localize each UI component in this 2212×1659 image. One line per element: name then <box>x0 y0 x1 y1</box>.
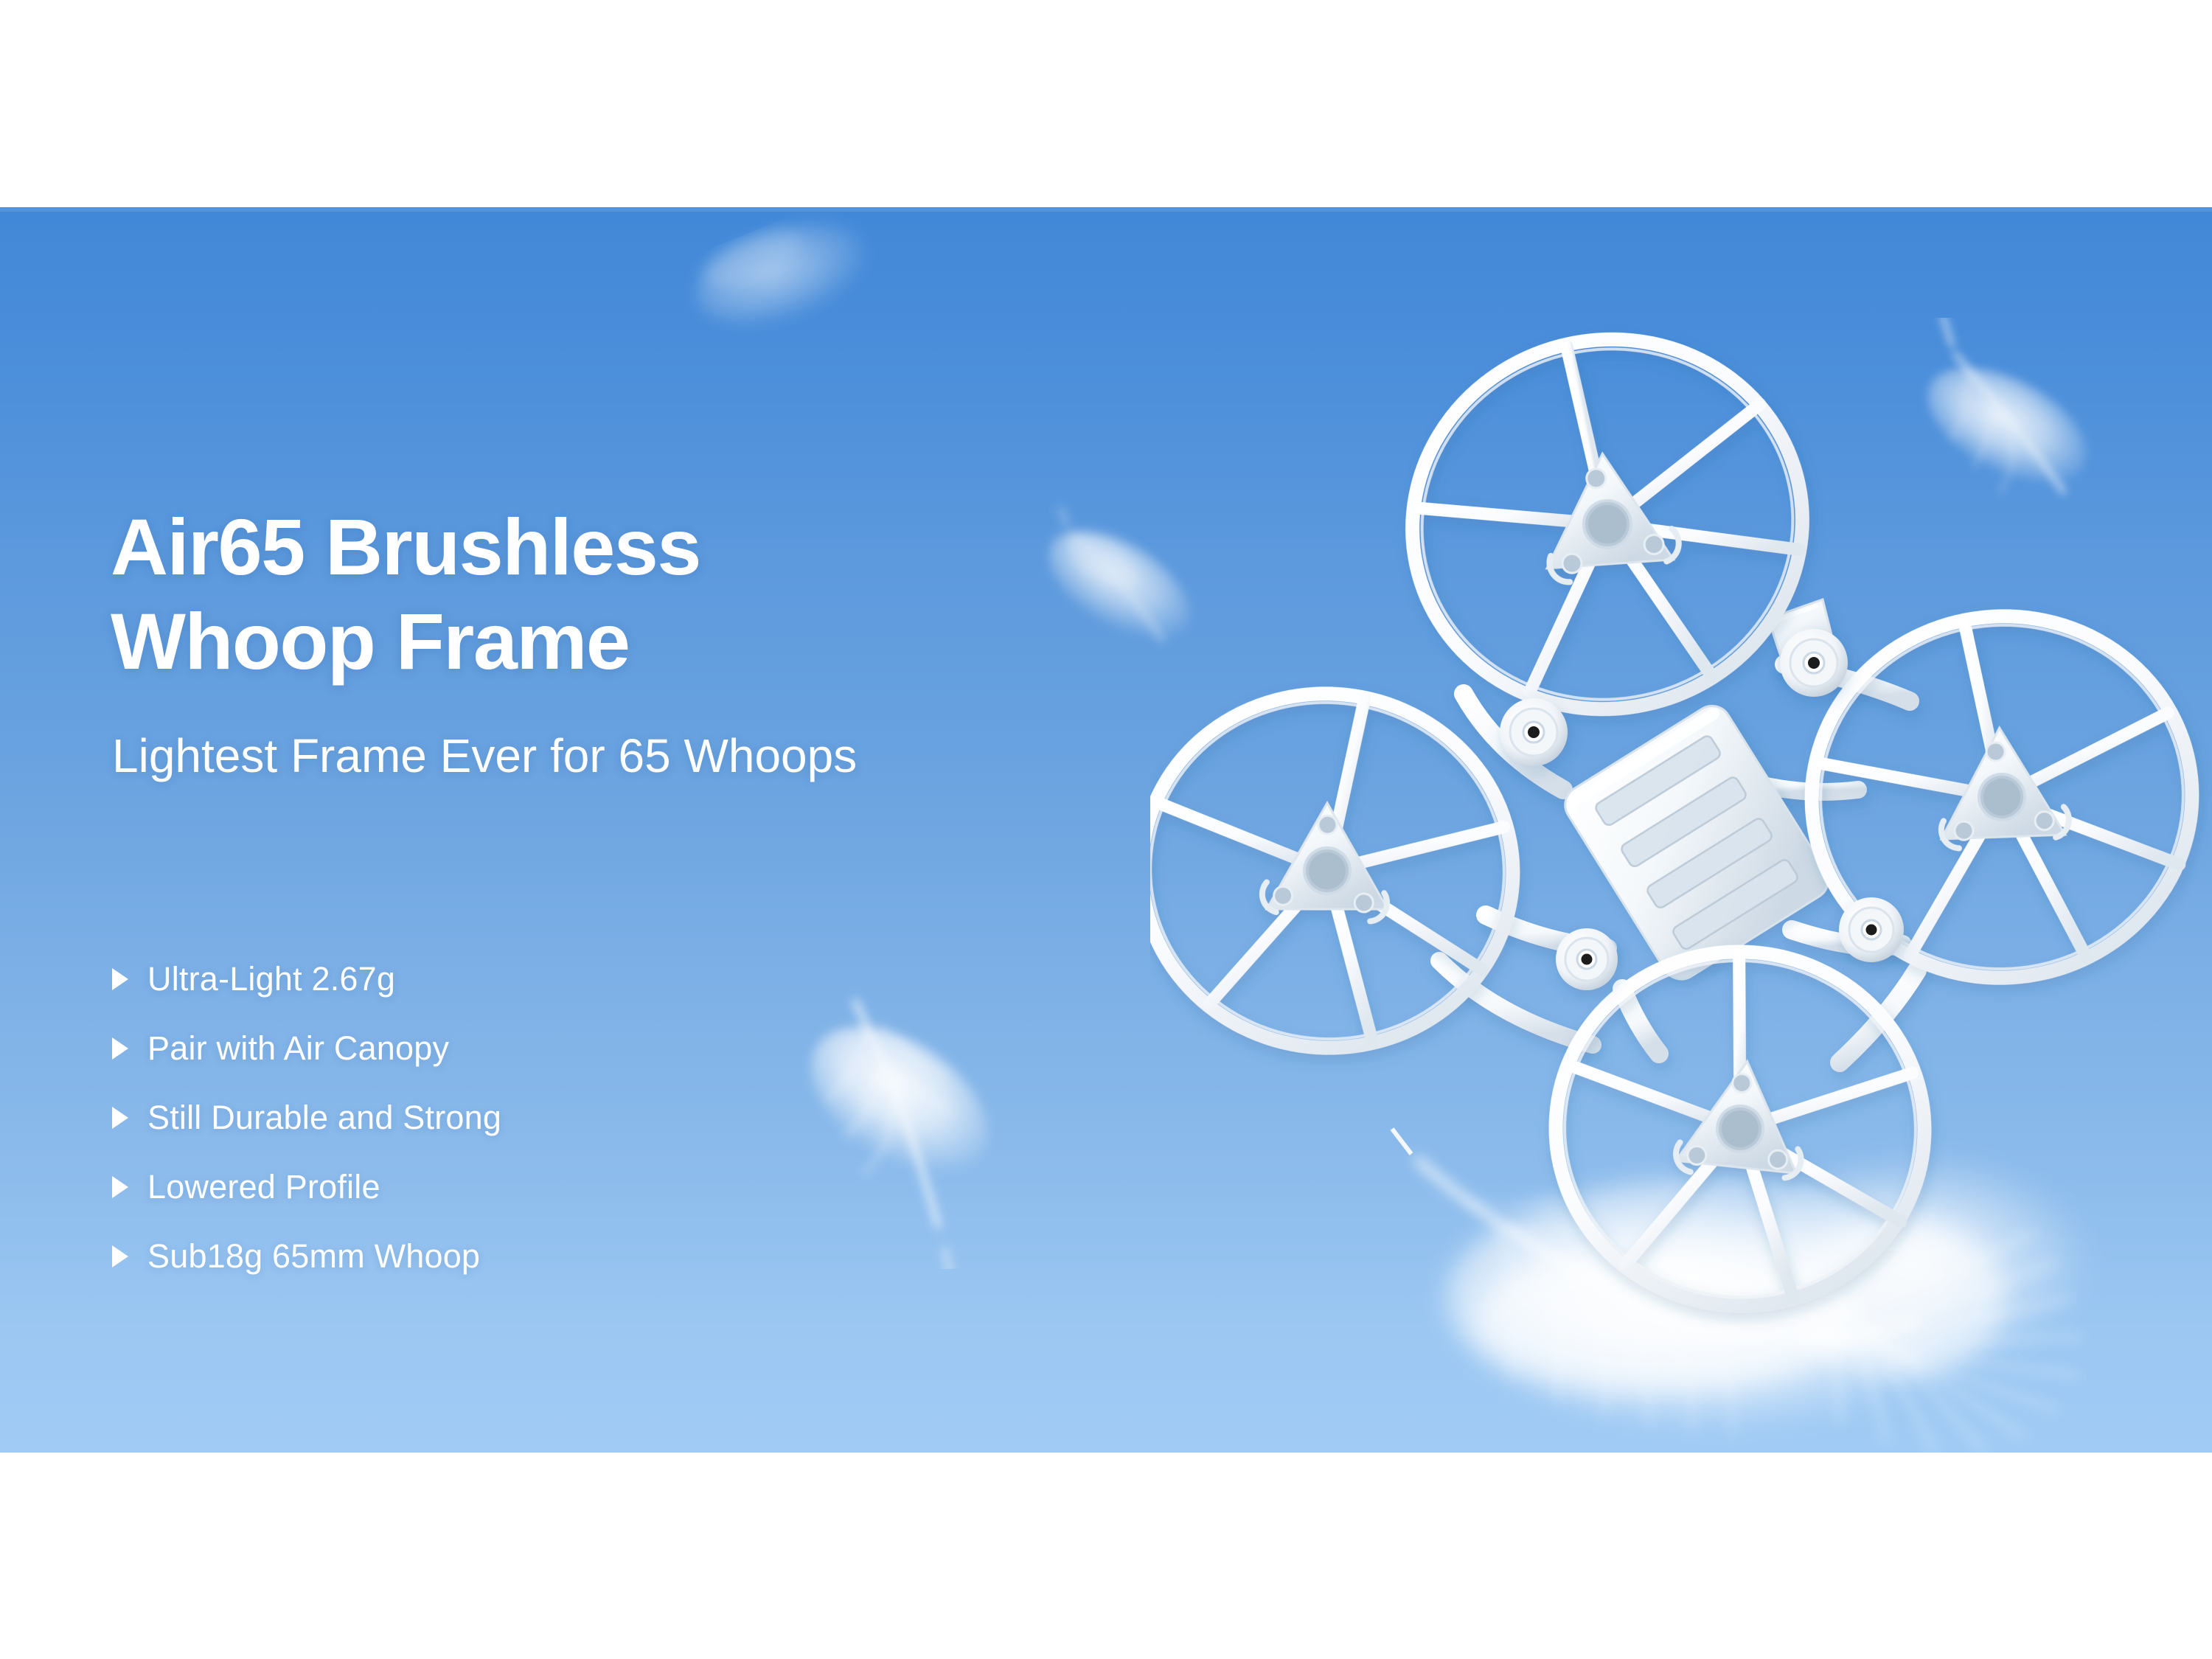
list-item: Pair with Air Canopy <box>111 1014 501 1083</box>
page-title: Air65 Brushless Whoop Frame <box>111 500 700 688</box>
feature-list: Ultra-Light 2.67g Pair with Air Canopy S… <box>111 945 501 1291</box>
triangle-right-icon <box>112 968 128 990</box>
feature-label: Ultra-Light 2.67g <box>147 960 395 998</box>
feature-label: Still Durable and Strong <box>147 1099 501 1137</box>
drone-frame-artwork <box>1150 281 2212 1453</box>
list-item: Lowered Profile <box>111 1152 501 1222</box>
triangle-right-icon <box>112 1245 128 1267</box>
triangle-right-icon <box>112 1107 128 1129</box>
list-item: Sub18g 65mm Whoop <box>111 1222 501 1291</box>
feature-label: Sub18g 65mm Whoop <box>147 1237 480 1276</box>
prop-guard-ring-left <box>1150 675 1531 1066</box>
promo-banner-page: Air65 Brushless Whoop Frame Lightest Fra… <box>0 0 2212 1659</box>
feature-label: Pair with Air Canopy <box>147 1029 449 1068</box>
triangle-right-icon <box>112 1176 128 1198</box>
page-subtitle: Lightest Frame Ever for 65 Whoops <box>112 728 857 785</box>
feature-label: Lowered Profile <box>147 1168 380 1206</box>
list-item: Ultra-Light 2.67g <box>111 945 501 1014</box>
list-item: Still Durable and Strong <box>111 1083 501 1152</box>
triangle-right-icon <box>112 1037 128 1060</box>
prop-guard-ring-bottom <box>1544 939 1936 1318</box>
hero-banner: Air65 Brushless Whoop Frame Lightest Fra… <box>0 207 2212 1453</box>
prop-guard-ring-top <box>1378 303 1837 745</box>
banner-text-column: Air65 Brushless Whoop Frame Lightest Fra… <box>111 207 1180 1453</box>
